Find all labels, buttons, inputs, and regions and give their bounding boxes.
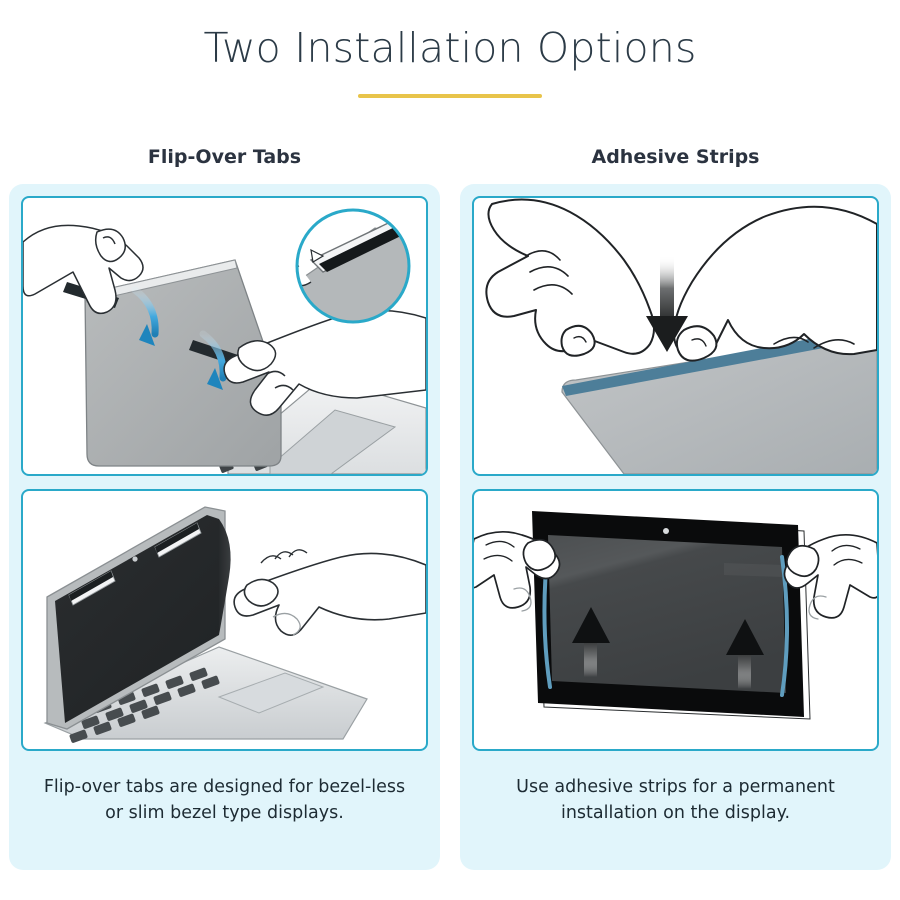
installation-options-graphic: Two Installation Options Flip-Over Tabs	[0, 0, 900, 900]
title-underline-accent	[358, 94, 542, 98]
hand-icon	[674, 207, 877, 361]
figure-flip-tabs-install	[21, 196, 428, 476]
webcam-icon	[663, 528, 669, 534]
flip-tabs-removal-illustration	[23, 491, 426, 749]
column-heading-adhesive-strips: Adhesive Strips	[460, 140, 891, 184]
monitor-icon	[532, 511, 810, 719]
options-columns: Flip-Over Tabs	[0, 140, 900, 870]
column-flip-over-tabs: Flip-Over Tabs	[9, 140, 440, 870]
figure-adhesive-apply	[472, 196, 879, 476]
figure-adhesive-mount	[472, 489, 879, 751]
hand-icon	[234, 550, 426, 635]
hand-icon	[486, 200, 654, 356]
page-title: Two Installation Options	[0, 24, 900, 72]
column-adhesive-strips: Adhesive Strips	[460, 140, 891, 870]
adhesive-apply-illustration	[474, 198, 877, 474]
figure-flip-tabs-removal	[21, 489, 428, 751]
column-heading-flip-over-tabs: Flip-Over Tabs	[9, 140, 440, 184]
caption-adhesive-strips: Use adhesive strips for a permanent inst…	[472, 764, 879, 870]
caption-flip-over-tabs: Flip-over tabs are designed for bezel-le…	[21, 764, 428, 870]
adhesive-mount-illustration	[474, 491, 877, 749]
card-adhesive-strips: Use adhesive strips for a permanent inst…	[460, 184, 891, 870]
flip-tabs-install-illustration	[23, 198, 426, 474]
magnifier-inset-icon	[285, 206, 423, 330]
card-flip-over-tabs: Flip-over tabs are designed for bezel-le…	[9, 184, 440, 870]
